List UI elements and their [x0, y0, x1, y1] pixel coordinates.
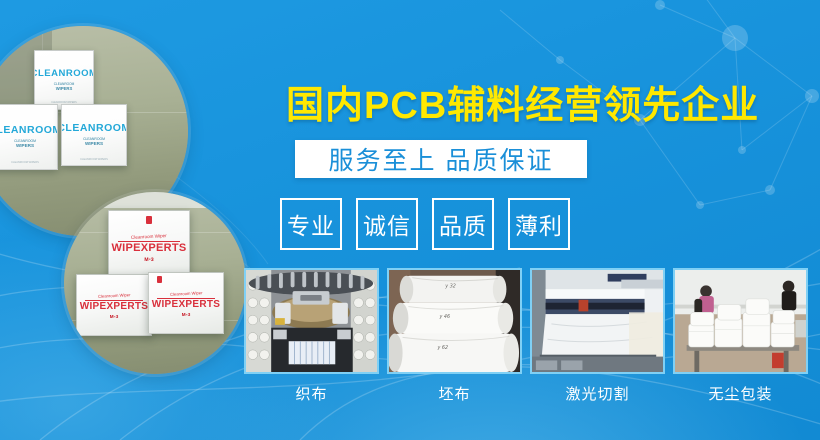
- block-mark: [146, 216, 152, 224]
- block-mark: [157, 276, 162, 283]
- feature-tag-quality[interactable]: 品质: [432, 198, 494, 250]
- svg-text:y 32: y 32: [444, 283, 456, 289]
- wipexperts-block: Cleanroom Wiper WIPEXPERTS м-з: [108, 210, 190, 280]
- process-photo-cell[interactable]: 织布: [244, 268, 379, 404]
- process-photo-cell[interactable]: 无尘包装: [673, 268, 808, 404]
- wipexperts-product-photo: Cleanroom Wiper WIPEXPERTS м-з Cleanroom…: [64, 192, 246, 374]
- banner-subtitle-text: 服务至上 品质保证: [329, 141, 554, 177]
- wiper-pack: CLEANROOM CLEANROOM WIPERS CLEANROOM WIP…: [61, 104, 127, 166]
- svg-text:y 62: y 62: [437, 345, 449, 351]
- wiper-pack: CLEANROOM CLEANROOM WIPERS CLEANROOM WIP…: [34, 50, 94, 110]
- block-brand: WIPEXPERTS: [111, 243, 186, 254]
- cleanroom-packing-photo[interactable]: [673, 268, 808, 374]
- laser-cutting-photo[interactable]: [530, 268, 665, 374]
- wall-strip: [64, 192, 246, 208]
- feature-tag-low-margin[interactable]: 薄利: [508, 198, 570, 250]
- block-logo: м-з: [110, 315, 119, 321]
- pack-title: CLEANROOM: [34, 69, 94, 79]
- promo-banner: CLEANROOM CLEANROOM WIPERS CLEANROOM WIP…: [0, 0, 820, 440]
- process-photo-caption: 织布: [295, 383, 327, 404]
- feature-tag-professional[interactable]: 专业: [280, 198, 342, 250]
- feature-tag-integrity[interactable]: 诚信: [356, 198, 418, 250]
- banner-subtitle-bar: 服务至上 品质保证: [295, 140, 587, 178]
- block-script: Cleanroom Wiper: [131, 234, 167, 240]
- pack-fineprint: CLEANROOM WIPERS: [11, 161, 39, 164]
- pack-footer: WIPERS: [16, 144, 34, 149]
- block-logo: м-з: [182, 313, 191, 319]
- process-photo-strip: 织布: [244, 268, 808, 404]
- greige-fabric-rolls-photo[interactable]: y 32 y 46 y 62: [387, 268, 522, 374]
- wiper-pack: CLEANROOM CLEANROOM WIPERS CLEANROOM WIP…: [0, 104, 58, 170]
- block-logo: м-з: [144, 257, 153, 263]
- feature-tag-row: 专业 诚信 品质 薄利: [280, 198, 570, 250]
- block-script: Cleanroom Wiper: [170, 292, 203, 298]
- process-photo-caption: 激光切割: [565, 383, 629, 404]
- pack-title: CLEANROOM: [0, 125, 58, 136]
- process-photo-cell[interactable]: y 32 y 46 y 62 坯布: [387, 268, 522, 404]
- pack-title: CLEANROOM: [61, 123, 127, 134]
- banner-headline: 国内PCB辅料经营领先企业: [286, 74, 759, 129]
- knitting-machine-photo[interactable]: [244, 268, 379, 374]
- pack-fineprint: CLEANROOM WIPERS: [80, 158, 108, 161]
- process-photo-caption: 坯布: [438, 383, 470, 404]
- block-brand: WIPEXPERTS: [80, 302, 149, 312]
- wipexperts-block: Cleanroom Wiper WIPEXPERTS м-з: [148, 272, 224, 334]
- block-script: Cleanroom Wiper: [98, 294, 131, 300]
- svg-text:y 46: y 46: [438, 314, 450, 320]
- process-photo-caption: 无尘包装: [708, 383, 772, 404]
- pack-footer: WIPERS: [56, 87, 73, 91]
- pack-footer: WIPERS: [85, 142, 103, 147]
- wipexperts-block: Cleanroom Wiper WIPEXPERTS м-з: [76, 274, 152, 336]
- process-photo-cell[interactable]: 激光切割: [530, 268, 665, 404]
- block-brand: WIPEXPERTS: [152, 300, 221, 310]
